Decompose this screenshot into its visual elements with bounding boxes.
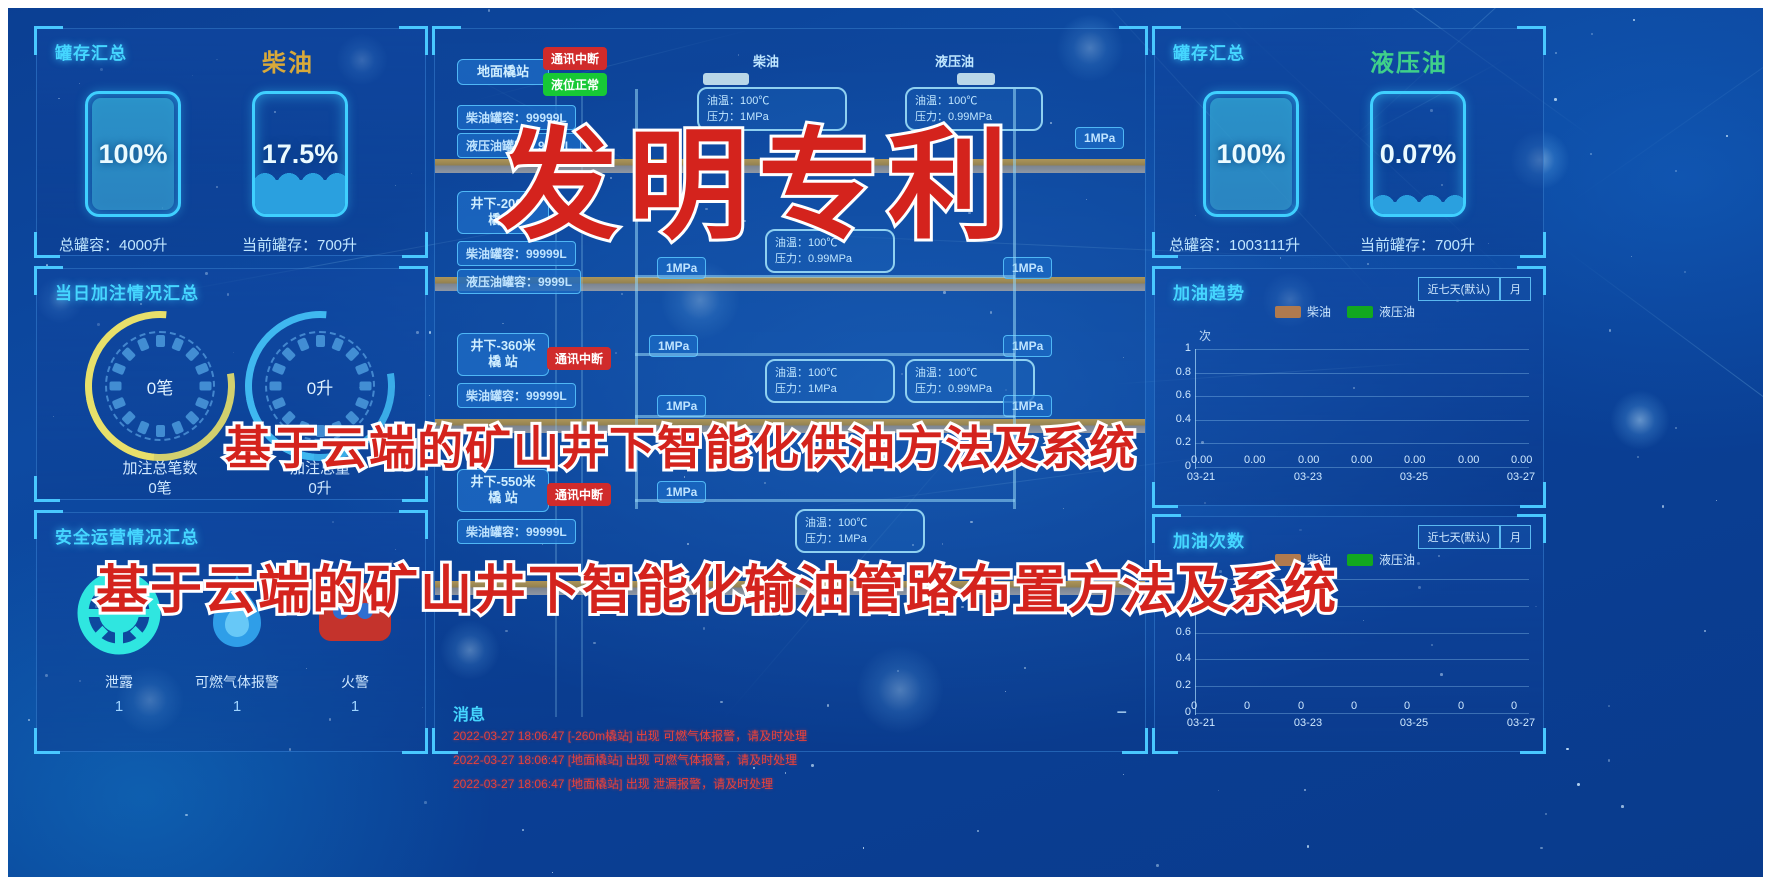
chart-point-label: 0.00 bbox=[1351, 454, 1372, 466]
chart-gridline bbox=[1195, 686, 1529, 687]
chart-point-label: 0 bbox=[1191, 700, 1197, 712]
star-particle bbox=[28, 719, 30, 721]
star-particle bbox=[1307, 845, 1309, 847]
panel-refuel-trend-chart: 加油趋势 近七天(默认) 月 柴油 液压油 次 10.80.60.40.200.… bbox=[1154, 268, 1544, 506]
star-particle bbox=[557, 4, 559, 6]
chart-point-label: 0.00 bbox=[1244, 454, 1265, 466]
oil-temp-360: 油温：100℃ bbox=[775, 367, 837, 379]
tank-current-percent-right: 0.07% bbox=[1380, 139, 1457, 170]
count-range-buttons[interactable]: 近七天(默认) 月 bbox=[1418, 525, 1531, 549]
star-particle bbox=[424, 801, 427, 804]
pressure-550: 压力：1MPa bbox=[805, 533, 867, 545]
zoom-out-button[interactable]: − bbox=[1116, 702, 1127, 723]
panel-left-tank-summary: 罐存汇总 柴油 100% 17.5% 总罐容：4000升 当前罐存：700升 bbox=[36, 28, 426, 256]
count-legend-hydraulic: 液压油 bbox=[1347, 551, 1415, 568]
star-particle bbox=[1726, 135, 1729, 138]
chart-gridline bbox=[1195, 373, 1529, 374]
star-particle bbox=[1367, 263, 1369, 265]
chart-gridline bbox=[1195, 420, 1529, 421]
star-particle bbox=[1123, 774, 1124, 775]
message-line-3: 2022-03-27 18:06:47 [地面橇站] 出现 泄漏报警，请及时处理 bbox=[453, 775, 773, 792]
chart-y-tick: 0.4 bbox=[1165, 413, 1191, 425]
station-label-360[interactable]: 井下-360米 橇 站 bbox=[457, 333, 549, 376]
legend-swatch-hydraulic bbox=[1347, 306, 1373, 318]
safety-value-leak: 1 bbox=[59, 698, 179, 715]
star-particle bbox=[863, 847, 865, 849]
star-particle bbox=[1631, 256, 1632, 257]
star-particle bbox=[1591, 33, 1593, 35]
trend-legend-hydraulic: 液压油 bbox=[1347, 303, 1415, 320]
tank-category-hydraulic: 液压油 bbox=[1370, 43, 1448, 78]
chart-y-tick: 0.6 bbox=[1165, 626, 1191, 638]
chart-point-label: 0.00 bbox=[1404, 454, 1425, 466]
legend-swatch-diesel bbox=[1275, 306, 1301, 318]
pipe-horizontal-200 bbox=[635, 275, 1015, 278]
panel-title-safety: 安全运营情况汇总 bbox=[55, 523, 199, 548]
chart-x-tick: 03-25 bbox=[1392, 717, 1436, 729]
star-particle bbox=[1716, 500, 1717, 501]
star-particle bbox=[1704, 630, 1706, 632]
equipment-cap-diesel bbox=[703, 73, 749, 85]
star-particle bbox=[811, 764, 814, 767]
chart-gridline bbox=[1195, 659, 1529, 660]
pressure-360-b: 压力：0.99MPa bbox=[915, 383, 992, 395]
trend-range-buttons[interactable]: 近七天(默认) 月 bbox=[1418, 277, 1531, 301]
star-particle bbox=[185, 814, 188, 817]
light-streak bbox=[1565, 249, 1771, 570]
chart-y-tick: 0.4 bbox=[1165, 652, 1191, 664]
watermark-patent: 发明专利 bbox=[498, 88, 1018, 262]
tank-category-diesel: 柴油 bbox=[262, 43, 314, 78]
panel-title-tank-summary: 罐存汇总 bbox=[55, 39, 127, 64]
chart-x-tick: 03-25 bbox=[1392, 471, 1436, 483]
chart-point-label: 0.00 bbox=[1191, 454, 1212, 466]
trend-legend: 柴油 液压油 bbox=[1275, 303, 1415, 320]
star-particle bbox=[1662, 505, 1664, 507]
trend-plot-area: 10.80.60.40.200.000.000.000.000.000.000.… bbox=[1195, 349, 1529, 469]
star-particle bbox=[1633, 19, 1635, 21]
safety-label-leak: 泄露 bbox=[59, 672, 179, 692]
watermark-title-line2: 基于云端的矿山井下智能化输油管路布置方法及系统 bbox=[96, 548, 1338, 623]
station-label-surface[interactable]: 地面橇站 bbox=[457, 59, 549, 85]
light-glow bbox=[1610, 390, 1670, 450]
chart-x-tick: 03-27 bbox=[1499, 717, 1543, 729]
star-particle bbox=[92, 1, 93, 2]
tank-diesel-360: 柴油罐容：99999L bbox=[457, 383, 576, 408]
count-x-axis: 03-2103-2303-2503-27 bbox=[1195, 715, 1529, 745]
tank-gauge-current-right: 0.07% bbox=[1370, 91, 1466, 217]
chart-gridline bbox=[1195, 396, 1529, 397]
chart-y-axis bbox=[1195, 349, 1196, 469]
chart-x-tick: 03-23 bbox=[1286, 471, 1330, 483]
chart-point-label: 0.00 bbox=[1511, 454, 1532, 466]
tank-hydraulic-200: 液压油罐容：9999L bbox=[457, 269, 581, 294]
trend-range-week-button[interactable]: 近七天(默认) bbox=[1418, 277, 1500, 301]
legend-label-diesel: 柴油 bbox=[1307, 303, 1331, 320]
star-particle bbox=[488, 9, 490, 11]
chart-gridline bbox=[1195, 467, 1529, 468]
star-particle bbox=[552, 872, 553, 873]
legend-swatch-hydraulic-2 bbox=[1347, 554, 1373, 566]
equipment-readout-360-a: 油温：100℃ 压力：1MPa bbox=[765, 359, 895, 403]
chart-gridline bbox=[1195, 349, 1529, 350]
pressure-360: 压力：1MPa bbox=[775, 383, 837, 395]
pressure-tag-1: 1MPa bbox=[1075, 127, 1124, 149]
oil-temp-360-b: 油温：100℃ bbox=[915, 367, 977, 379]
status-comm-surface: 通讯中断 bbox=[543, 47, 607, 70]
safety-value-gas: 1 bbox=[177, 698, 297, 715]
chart-x-tick: 03-21 bbox=[1179, 717, 1223, 729]
equipment-cap-hydraulic bbox=[957, 73, 995, 85]
star-particle bbox=[429, 331, 432, 334]
message-line-2: 2022-03-27 18:06:47 [地面橇站] 出现 可燃气体报警，请及时… bbox=[453, 751, 797, 768]
chart-x-tick: 03-27 bbox=[1499, 471, 1543, 483]
chart-y-tick: 0.6 bbox=[1165, 389, 1191, 401]
status-comm-550: 通讯中断 bbox=[547, 483, 611, 506]
oil-temp-550: 油温：100℃ bbox=[805, 517, 867, 529]
tank-current-stock-label: 当前罐存：700升 bbox=[242, 234, 357, 255]
light-streak bbox=[1569, 0, 1771, 204]
count-range-week-button[interactable]: 近七天(默认) bbox=[1418, 525, 1500, 549]
star-particle bbox=[866, 3, 867, 4]
panel-right-tank-summary: 罐存汇总 液压油 100% 0.07% 总罐容：1003111升 当前罐存：70… bbox=[1154, 28, 1544, 256]
star-particle bbox=[1545, 813, 1547, 815]
chart-point-label: 0 bbox=[1244, 700, 1250, 712]
star-particle bbox=[1675, 170, 1677, 172]
tank-total-percent-right: 100% bbox=[1216, 139, 1285, 170]
chart-gridline bbox=[1195, 713, 1529, 714]
star-particle bbox=[977, 830, 979, 832]
gauge-refuel-count: 0笔 bbox=[85, 311, 235, 461]
chart-point-label: 0 bbox=[1458, 700, 1464, 712]
trend-range-month-button[interactable]: 月 bbox=[1500, 277, 1531, 301]
trend-y-unit: 次 bbox=[1199, 327, 1211, 344]
message-line-1: 2022-03-27 18:06:47 [-260m橇站] 出现 可燃气体报警，… bbox=[453, 727, 807, 744]
status-comm-360: 通讯中断 bbox=[547, 347, 611, 370]
tank-gauge-current: 17.5% bbox=[252, 91, 348, 217]
star-particle bbox=[1304, 789, 1306, 791]
star-particle bbox=[1590, 153, 1592, 155]
star-particle bbox=[1156, 864, 1159, 867]
safety-value-fire: 1 bbox=[295, 698, 415, 715]
equipment-category-hydraulic: 液压油 bbox=[935, 51, 974, 70]
legend-label-hydraulic-2: 液压油 bbox=[1379, 551, 1415, 568]
equipment-category-diesel: 柴油 bbox=[753, 51, 779, 70]
pipe-horizontal-360 bbox=[635, 353, 1015, 356]
star-particle bbox=[1684, 271, 1686, 273]
tank-diesel-550: 柴油罐容：99999L bbox=[457, 519, 576, 544]
chart-x-tick: 03-21 bbox=[1179, 471, 1223, 483]
messages-title: 消息 bbox=[453, 701, 485, 725]
count-range-month-button[interactable]: 月 bbox=[1500, 525, 1531, 549]
tank-gauge-total: 100% bbox=[85, 91, 181, 217]
chart-y-tick: 0.2 bbox=[1165, 436, 1191, 448]
star-particle bbox=[1540, 847, 1543, 850]
star-particle bbox=[1280, 257, 1281, 258]
star-particle bbox=[1608, 759, 1610, 761]
watermark-title-line1: 基于云端的矿山井下智能化供油方法及系统 bbox=[225, 412, 1137, 478]
tank-total-percent: 100% bbox=[98, 139, 167, 170]
tank-total-capacity-label-right: 总罐容：1003111升 bbox=[1169, 234, 1300, 255]
star-particle bbox=[515, 880, 518, 883]
chart-y-tick: 1 bbox=[1165, 342, 1191, 354]
tank-total-capacity-label: 总罐容：4000升 bbox=[59, 234, 167, 255]
star-particle bbox=[3, 546, 4, 547]
star-particle bbox=[1608, 705, 1610, 707]
gauge-refuel-count-value: 0笔 bbox=[85, 311, 235, 461]
safety-label-fire: 火警 bbox=[295, 672, 415, 692]
chart-x-tick: 03-23 bbox=[1286, 717, 1330, 729]
chart-point-label: 0 bbox=[1351, 700, 1357, 712]
star-particle bbox=[851, 880, 853, 882]
chart-point-label: 0.00 bbox=[1298, 454, 1319, 466]
chart-point-label: 0 bbox=[1298, 700, 1304, 712]
tank-gauge-total-right: 100% bbox=[1203, 91, 1299, 217]
pipe-horizontal-550 bbox=[635, 499, 1015, 502]
star-particle bbox=[1675, 427, 1677, 429]
chart-y-tick: 0.8 bbox=[1165, 366, 1191, 378]
star-particle bbox=[1554, 98, 1557, 101]
trend-legend-diesel: 柴油 bbox=[1275, 303, 1331, 320]
star-particle bbox=[785, 772, 787, 774]
chart-y-tick: 0.2 bbox=[1165, 679, 1191, 691]
star-particle bbox=[1609, 329, 1612, 332]
star-particle bbox=[1218, 790, 1219, 791]
safety-label-gas: 可燃气体报警 bbox=[177, 672, 297, 692]
equipment-readout-550-a: 油温：100℃ 压力：1MPa bbox=[795, 509, 925, 553]
star-particle bbox=[1555, 52, 1557, 54]
chart-gridline bbox=[1195, 633, 1529, 634]
chart-point-label: 0 bbox=[1511, 700, 1517, 712]
dashboard-root: 罐存汇总 柴油 100% 17.5% 总罐容：4000升 当前罐存：700升 当… bbox=[0, 0, 1771, 885]
star-particle bbox=[522, 829, 524, 831]
star-particle bbox=[1637, 456, 1639, 458]
star-particle bbox=[429, 395, 430, 396]
star-particle bbox=[1577, 783, 1580, 786]
panel-title-trend: 加油趋势 bbox=[1173, 279, 1245, 304]
tank-current-stock-label-right: 当前罐存：700升 bbox=[1360, 234, 1475, 255]
chart-point-label: 0 bbox=[1404, 700, 1410, 712]
trend-x-axis: 03-2103-2303-2503-27 bbox=[1195, 469, 1529, 499]
tank-current-percent: 17.5% bbox=[262, 139, 339, 170]
star-particle bbox=[1525, 879, 1528, 882]
panel-title-tank-summary-right: 罐存汇总 bbox=[1173, 39, 1245, 64]
star-particle bbox=[1566, 748, 1568, 750]
chart-gridline bbox=[1195, 443, 1529, 444]
legend-label-hydraulic: 液压油 bbox=[1379, 303, 1415, 320]
chart-point-label: 0.00 bbox=[1458, 454, 1479, 466]
panel-title-refuel-today: 当日加注情况汇总 bbox=[55, 279, 199, 304]
star-particle bbox=[1621, 805, 1624, 808]
